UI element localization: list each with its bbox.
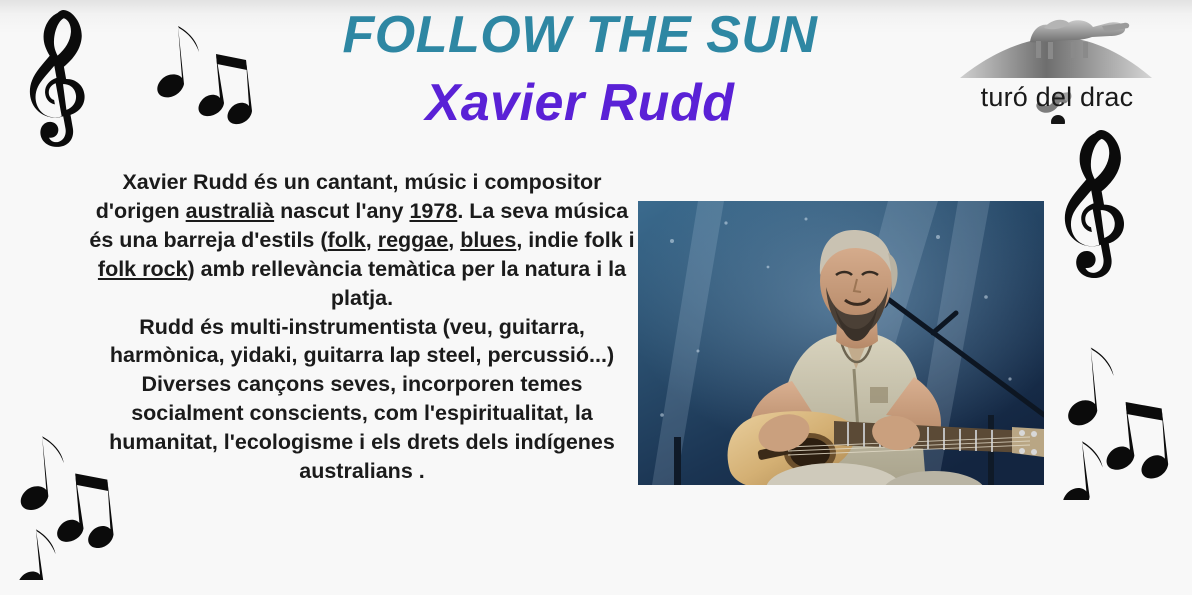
inline-link[interactable]: folk [328, 228, 366, 252]
inline-link[interactable]: 1978 [409, 199, 457, 223]
logo-text: turó del drac [952, 82, 1162, 113]
title-block: FOLLOW THE SUN Xavier Rudd [250, 6, 910, 132]
paragraph-2: Rudd és multi-instrumentista (veu, guita… [84, 313, 640, 371]
inline-link[interactable]: reggae [378, 228, 449, 252]
inline-text: , indie folk i [516, 228, 634, 252]
paragraph-1-content: Xavier Rudd és un cantant, músic i compo… [89, 170, 634, 310]
logo: turó del drac [952, 6, 1162, 124]
treble-clef-right [1052, 130, 1132, 290]
music-notes-top-left [145, 14, 255, 134]
eighth-notes-icon [8, 430, 128, 580]
inline-link[interactable]: blues [460, 228, 516, 252]
page-title: FOLLOW THE SUN [250, 6, 910, 64]
xavier-rudd-performance-image [638, 201, 1044, 485]
page-subtitle: Xavier Rudd [250, 74, 910, 132]
music-notes-bottom-left [8, 430, 128, 580]
inline-link[interactable]: folk rock [98, 257, 188, 281]
presentation-slide: FOLLOW THE SUN Xavier Rudd [0, 0, 1192, 595]
treble-clef-icon [18, 10, 92, 158]
paragraph-3: Diverses cançons seves, incorporen temes… [84, 370, 640, 486]
treble-clef-icon [1052, 130, 1132, 290]
eighth-notes-icon [145, 14, 255, 134]
treble-clef-top-left [18, 10, 92, 158]
inline-text: , [448, 228, 460, 252]
inline-link[interactable]: australià [186, 199, 274, 223]
artist-photo [638, 201, 1044, 485]
body-text: Xavier Rudd és un cantant, músic i compo… [84, 168, 640, 486]
inline-text: ) amb rellevància temàtica per la natura… [188, 257, 627, 310]
music-notes-bottom-right [1058, 340, 1178, 500]
eighth-notes-icon [1058, 340, 1178, 500]
inline-text: , [366, 228, 378, 252]
paragraph-1: Xavier Rudd és un cantant, músic i compo… [84, 168, 640, 313]
inline-text: nascut l'any [274, 199, 409, 223]
